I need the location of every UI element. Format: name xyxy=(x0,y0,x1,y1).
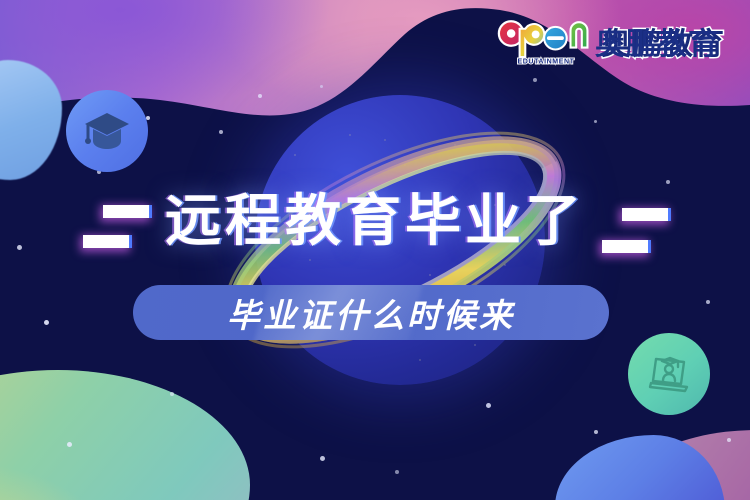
star xyxy=(666,180,670,184)
brand-logo[interactable]: EDUTAINMENT 奥鹏教育 奥鹏教育 xyxy=(497,12,725,70)
graduation-cap-icon xyxy=(82,108,132,154)
star xyxy=(594,120,597,123)
star xyxy=(706,300,710,304)
open-wordmark-icon: EDUTAINMENT xyxy=(497,14,595,68)
headline-text: 远程教育毕业了 xyxy=(0,193,750,249)
logo-brand-cn-wrap: 奥鹏教育 奥鹏教育 xyxy=(595,19,725,63)
subtitle-text: 毕业证什么时候来 xyxy=(133,285,609,340)
star xyxy=(67,442,72,447)
star xyxy=(395,470,399,474)
logo-brand-cn: 奥鹏教育 xyxy=(595,19,719,63)
star xyxy=(727,438,731,442)
star xyxy=(594,430,598,434)
promo-banner: EDUTAINMENT 奥鹏教育 奥鹏教育 远程教育毕业了 毕业证什么时候来 xyxy=(0,0,750,500)
graduation-cap-badge xyxy=(66,90,148,172)
subtitle-pill: 毕业证什么时候来 xyxy=(133,285,609,340)
laptop-graduate-icon xyxy=(643,350,695,398)
star xyxy=(320,456,325,461)
star xyxy=(170,392,174,396)
blob-bottom-left xyxy=(0,370,250,500)
star xyxy=(44,320,49,325)
online-class-badge xyxy=(628,333,710,415)
logo-tagline: EDUTAINMENT xyxy=(518,59,575,66)
